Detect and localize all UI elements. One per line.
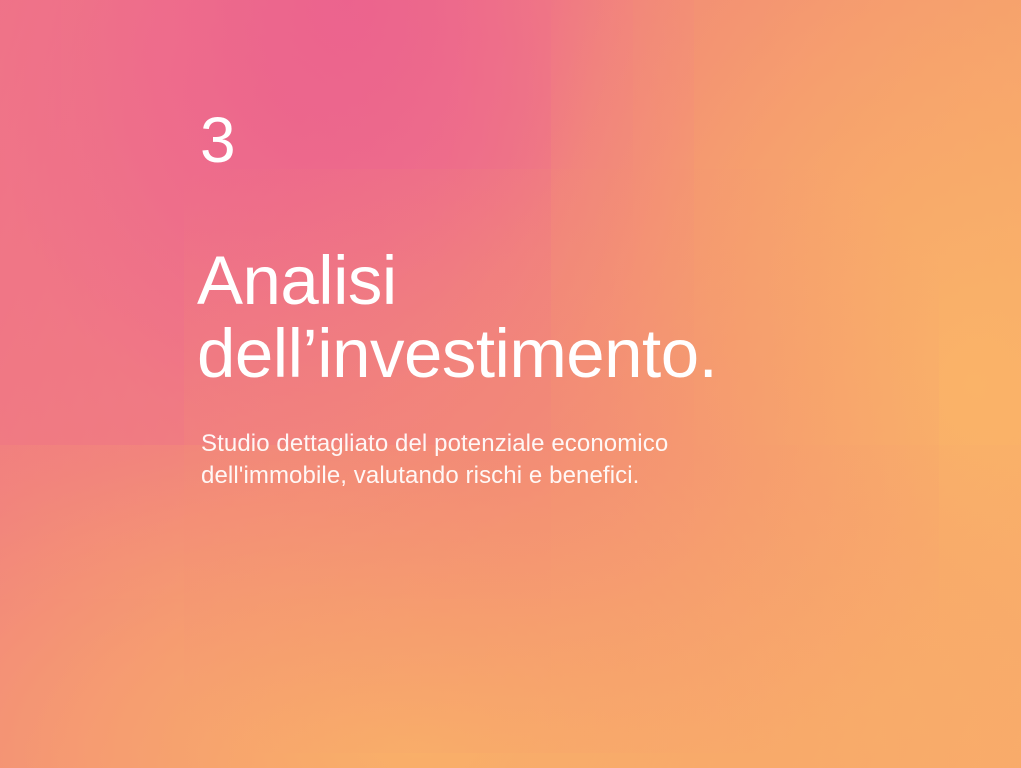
slide-title: Analisi dell’investimento.: [197, 244, 717, 390]
slide-content: 3 Analisi dell’investimento. Studio dett…: [200, 0, 960, 768]
slide-subtitle: Studio dettagliato del potenziale econom…: [201, 428, 668, 492]
slide-canvas: 3 Analisi dell’investimento. Studio dett…: [0, 0, 1021, 768]
section-number: 3: [200, 108, 236, 172]
